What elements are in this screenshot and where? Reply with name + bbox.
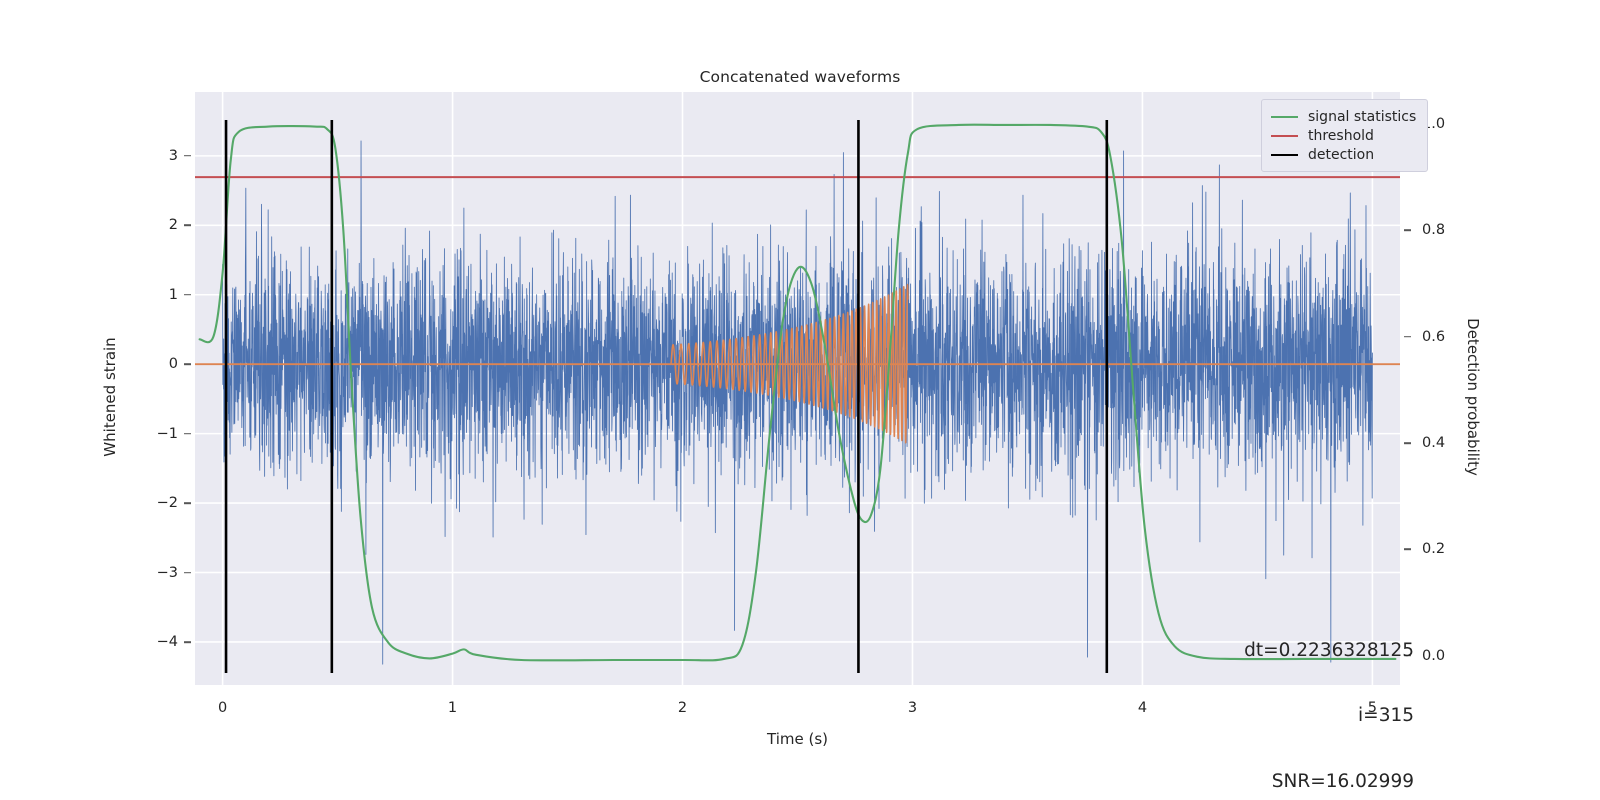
y-axis-tick-mark-left [184,433,191,435]
legend-swatch-threshold [1271,135,1298,137]
legend-swatch-signal-statistics [1271,116,1298,118]
y-axis-tick-mark-right [1404,229,1411,231]
annotation-dt: dt=0.2236328125 [1244,640,1414,662]
y-axis-tick-label-left: 3 [132,148,178,164]
y-axis-tick-label-left: −2 [132,495,178,511]
page-title: Concatenated waveforms [0,68,1600,86]
legend: signal statistics threshold detection [1261,99,1428,172]
annotation-snr: SNR=16.02999 [1244,771,1414,793]
y-axis-tick-label-right: 1.0 [1422,116,1468,132]
y-axis-label-right: Detection probability [1464,277,1482,517]
y-axis-tick-mark-right [1404,336,1411,338]
y-axis-tick-label-left: −3 [132,565,178,581]
legend-label-signal-statistics: signal statistics [1308,109,1416,125]
series-whitened-noise [223,141,1373,664]
y-axis-tick-label-left: 0 [132,356,178,372]
legend-item-threshold: threshold [1271,126,1416,145]
y-axis-tick-mark-right [1404,549,1411,551]
y-axis-tick-label-left: −4 [132,634,178,650]
y-axis-tick-mark-right [1404,442,1411,444]
y-axis-tick-label-left: 1 [132,287,178,303]
y-axis-tick-mark-left [184,155,191,157]
y-axis-tick-mark-left [184,502,191,504]
x-axis-tick-label: 0 [203,700,243,716]
plot-area [195,92,1400,685]
y-axis-tick-label-left: −1 [132,426,178,442]
y-axis-tick-mark-left [184,572,191,574]
annotation-block: dt=0.2236328125 i=315 SNR=16.02999 [1244,596,1414,800]
y-axis-tick-mark-left [184,363,191,365]
x-axis-tick-label: 3 [892,700,932,716]
legend-label-detection: detection [1308,147,1374,163]
legend-item-detection: detection [1271,145,1416,164]
y-axis-tick-label-left: 2 [132,217,178,233]
y-axis-label-left: Whitened strain [101,277,119,517]
legend-swatch-detection [1271,154,1298,156]
y-axis-tick-label-right: 0.0 [1422,648,1468,664]
x-axis-label: Time (s) [195,730,1400,748]
annotation-i: i=315 [1244,705,1414,727]
x-axis-tick-label: 4 [1122,700,1162,716]
x-axis-tick-label: 2 [663,700,703,716]
y-axis-tick-mark-left [184,225,191,227]
legend-label-threshold: threshold [1308,128,1374,144]
legend-item-signal-statistics: signal statistics [1271,107,1416,126]
y-axis-tick-label-right: 0.8 [1422,222,1468,238]
y-axis-tick-label-right: 0.2 [1422,541,1468,557]
y-axis-tick-mark-left [184,641,191,643]
y-axis-tick-mark-left [184,294,191,296]
y-axis-tick-label-right: 0.4 [1422,435,1468,451]
figure-canvas: Concatenated waveforms 3210−1−2−3−41.00.… [0,0,1600,800]
y-axis-tick-label-right: 0.6 [1422,329,1468,345]
x-axis-tick-label: 1 [433,700,473,716]
